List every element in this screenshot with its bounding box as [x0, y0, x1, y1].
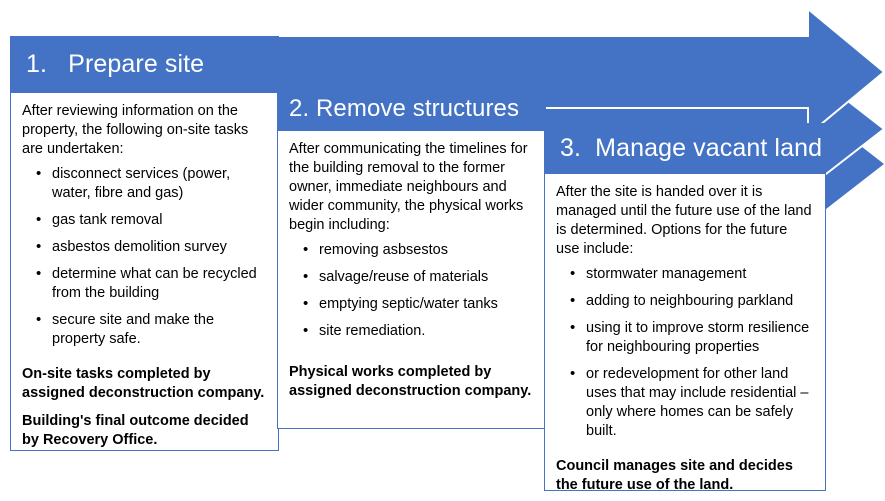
step-3-note-1: Council manages site and decides the fut… — [556, 457, 813, 495]
list-item: or redevelopment for other land uses tha… — [586, 365, 813, 441]
list-item: adding to neighbouring parkland — [586, 292, 813, 311]
list-item: determine what can be recycled from the … — [52, 265, 266, 303]
list-item: removing asbsestos — [319, 241, 533, 260]
step-1-header-label: 1. Prepare site — [26, 52, 204, 77]
step-panel-3: 3. Manage vacant land After the site is … — [544, 123, 826, 491]
step-panel-2: 2. Remove structures After communicating… — [277, 88, 546, 429]
list-item: using it to improve storm resilience for… — [586, 319, 813, 357]
step-1-intro: After reviewing information on the prope… — [22, 102, 266, 159]
step-3-bullet-list: stormwater management adding to neighbou… — [556, 265, 813, 441]
list-item: stormwater management — [586, 265, 813, 284]
list-item: gas tank removal — [52, 211, 266, 230]
list-item: disconnect services (power, water, fibre… — [52, 165, 266, 203]
list-item: asbestos demolition survey — [52, 238, 266, 257]
step-2-header-label: 2. Remove structures — [289, 97, 519, 121]
step-3-header-label: 3. Manage vacant land — [560, 136, 822, 161]
step-1-header: 1. Prepare site — [10, 36, 279, 92]
step-1-body: After reviewing information on the prope… — [10, 92, 279, 451]
step-2-note-1: Physical works completed by assigned dec… — [289, 363, 533, 401]
list-item: site remediation. — [319, 322, 533, 341]
step-2-intro: After communicating the timelines for th… — [289, 140, 533, 235]
step-2-body: After communicating the timelines for th… — [277, 130, 546, 429]
spacer — [556, 449, 813, 457]
step-2-header: 2. Remove structures — [277, 88, 546, 130]
step-3-header: 3. Manage vacant land — [544, 123, 826, 173]
list-item: secure site and make the property safe. — [52, 311, 266, 349]
step-3-body: After the site is handed over it is mana… — [544, 173, 826, 491]
list-item: emptying septic/water tanks — [319, 295, 533, 314]
step-1-note-2: Building's final outcome decided by Reco… — [22, 412, 266, 450]
step-1-bullet-list: disconnect services (power, water, fibre… — [22, 165, 266, 349]
step-1-note-1: On-site tasks completed by assigned deco… — [22, 365, 266, 403]
list-item: salvage/reuse of materials — [319, 268, 533, 287]
step-panel-1: 1. Prepare site After reviewing informat… — [10, 36, 279, 451]
process-diagram: 1. Prepare site After reviewing informat… — [0, 0, 885, 501]
step-2-bullet-list: removing asbsestos salvage/reuse of mate… — [289, 241, 533, 341]
step-3-intro: After the site is handed over it is mana… — [556, 183, 813, 259]
spacer — [289, 349, 533, 363]
spacer — [22, 357, 266, 365]
